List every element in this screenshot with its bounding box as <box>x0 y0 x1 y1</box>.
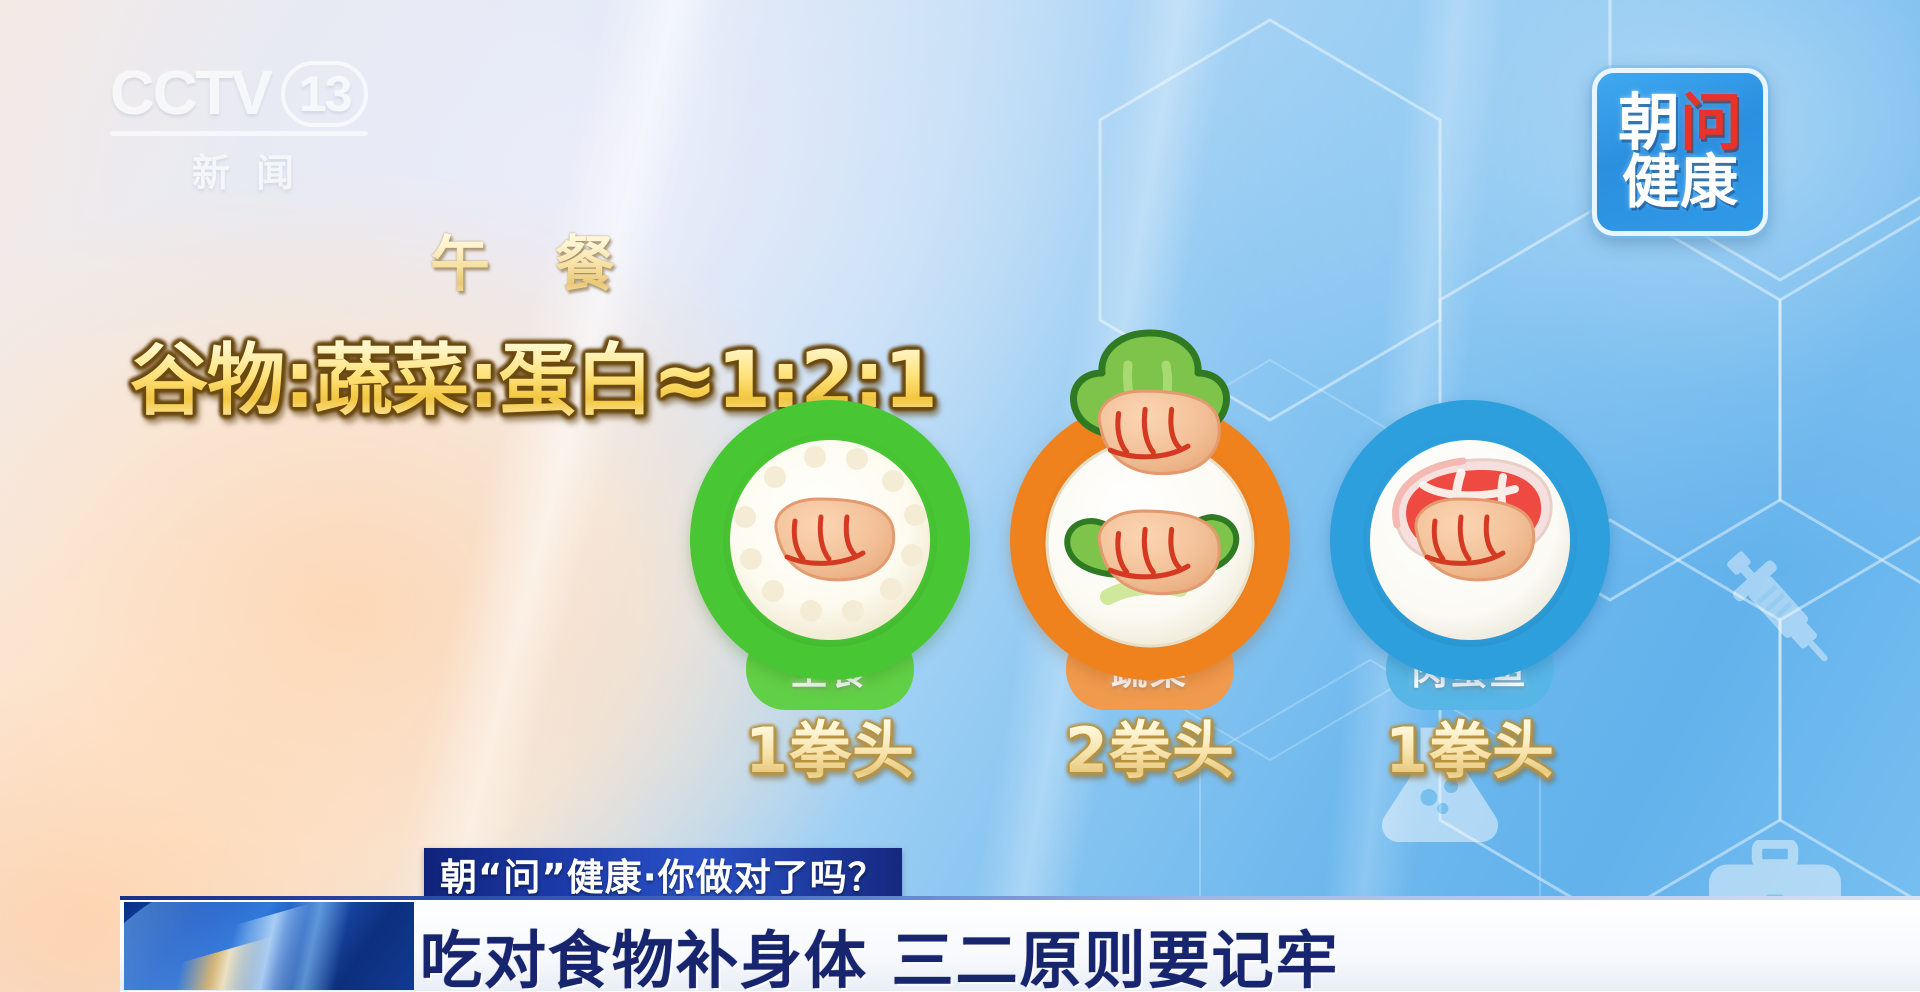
headline-text: 吃对食物补身体 三二原则要记牢 <box>420 910 1340 992</box>
portion-ring-staple <box>690 400 970 680</box>
portion-disc-staple: 主食 <box>680 400 980 720</box>
portion-item-protein: 肉蛋鱼 <box>1320 400 1620 720</box>
portion-amount-protein: 1拳头 <box>1320 700 1620 790</box>
kicker-text: 朝“问”健康·你做对了吗？ <box>440 847 886 901</box>
portion-disc-protein: 肉蛋鱼 <box>1320 400 1620 720</box>
broadcast-frame: CCTV 13 新闻 朝 问 健 康 午 餐 谷物:蔬菜:蛋白≈1:2:1 主食 <box>0 0 1920 992</box>
portion-ring-vegetable <box>1010 400 1290 680</box>
lower-third-swirl-graphic <box>124 902 414 990</box>
broccoli-plate-icon <box>1043 433 1257 647</box>
portion-amount-vegetable: 2拳头 <box>1000 700 1300 790</box>
portion-ring-protein <box>1330 400 1610 680</box>
food-portion-group: 主食 <box>0 0 1920 992</box>
portion-amount-staple: 1拳头 <box>680 700 980 790</box>
meat-plate-icon <box>1363 433 1577 647</box>
portion-item-vegetable: 蔬菜 <box>1000 400 1300 720</box>
portion-item-staple: 主食 <box>680 400 980 720</box>
kicker-banner: 朝“问”健康·你做对了吗？ <box>424 848 902 900</box>
rice-bowl-icon <box>723 433 937 647</box>
portion-disc-vegetable: 蔬菜 <box>1000 400 1300 720</box>
